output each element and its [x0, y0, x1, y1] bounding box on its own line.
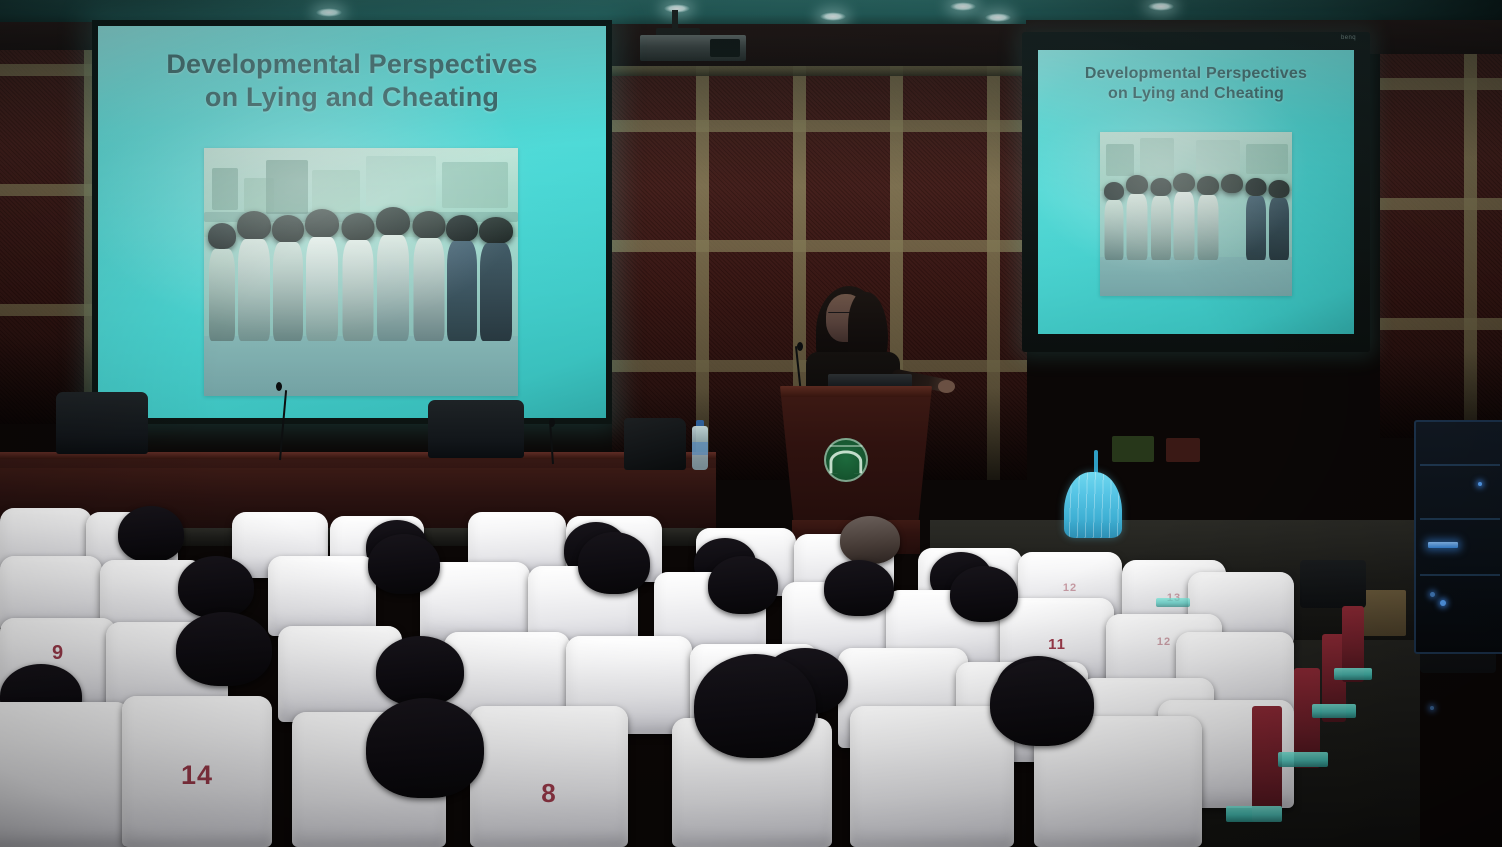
seat[interactable]: 8	[470, 706, 628, 847]
downlight-icon	[1148, 2, 1174, 11]
seat-armrest	[1278, 752, 1328, 767]
child-head	[208, 223, 236, 249]
child-head	[1126, 175, 1148, 194]
shelf-object	[212, 168, 238, 210]
lectern-top	[780, 386, 932, 397]
audience-head	[950, 566, 1018, 622]
presenter-hand	[938, 380, 955, 393]
left-wall	[0, 24, 104, 424]
child-figure	[1197, 176, 1219, 260]
ceiling-projector	[636, 10, 756, 70]
child-head	[1197, 176, 1219, 195]
child-figure	[1268, 180, 1289, 260]
child-body	[413, 238, 444, 341]
child-body	[1105, 200, 1124, 260]
main-slide-title-line2: on Lying and Cheating	[98, 81, 606, 114]
bottle-label	[692, 442, 708, 455]
child-head	[1173, 173, 1195, 192]
rack-led-indicator	[1440, 600, 1446, 606]
child-figure	[272, 215, 304, 341]
wall-shading	[0, 24, 104, 424]
audience-head	[694, 654, 816, 758]
seat-cover	[268, 556, 376, 636]
child-head	[1221, 174, 1243, 193]
child-figure	[1126, 175, 1148, 260]
child-body	[480, 243, 512, 341]
shelf-object	[266, 160, 308, 214]
seat-number: 11	[1000, 636, 1114, 653]
umbrella-ribs	[1064, 472, 1122, 538]
classroom-floor	[204, 336, 518, 396]
child-figure	[1104, 182, 1124, 260]
seat-cover	[850, 706, 1014, 847]
microphone-head-icon	[797, 342, 803, 351]
seat-cover	[0, 702, 130, 847]
child-body	[238, 239, 270, 341]
child-head	[272, 215, 304, 243]
audience-head	[376, 636, 464, 706]
seat-armrest	[1334, 668, 1372, 680]
child-figure	[446, 215, 478, 341]
audience-head	[178, 556, 254, 618]
child-head	[1268, 180, 1289, 198]
child-body	[1198, 195, 1219, 260]
secondary-slide-title: Developmental Perspectives on Lying and …	[1038, 64, 1354, 103]
seat-number: 14	[122, 760, 272, 791]
lectern	[780, 386, 932, 538]
secondary-slide-title-line2: on Lying and Cheating	[1038, 84, 1354, 104]
child-body	[377, 235, 409, 341]
child-head	[341, 213, 374, 241]
child-body	[1269, 198, 1289, 260]
bottle-body	[692, 426, 708, 470]
secondary-slide-photo	[1100, 132, 1292, 296]
rack-shelf	[1420, 574, 1500, 576]
child-head	[412, 211, 445, 239]
shelf-object	[366, 156, 436, 206]
wall-shading	[1380, 38, 1502, 438]
audience-head	[118, 506, 184, 562]
head-table-microphone	[546, 418, 558, 464]
head-table-microphone	[272, 382, 286, 460]
microphone-head-icon	[549, 418, 555, 427]
child-head	[446, 215, 478, 242]
child-head	[479, 217, 513, 244]
black-bag	[624, 418, 686, 470]
side-chair[interactable]	[1300, 560, 1366, 608]
rack-shelf	[1420, 518, 1500, 520]
child-figure	[237, 211, 271, 341]
microphone-stem	[279, 390, 287, 460]
head-table-chair[interactable]	[56, 392, 148, 454]
child-body	[447, 241, 477, 341]
main-slide-title: Developmental Perspectives on Lying and …	[98, 48, 606, 114]
lecture-hall-photo: Developmental Perspectives on Lying and …	[0, 0, 1502, 847]
child-figure	[1245, 178, 1266, 260]
main-screen-frame: Developmental Perspectives on Lying and …	[92, 20, 612, 424]
child-figure	[479, 217, 513, 341]
umbrella	[1064, 472, 1122, 538]
child-head	[305, 209, 339, 238]
secondary-slide-title-line1: Developmental Perspectives	[1038, 64, 1354, 84]
child-figure	[1221, 174, 1243, 260]
university-emblem-icon	[824, 438, 868, 482]
water-bottle	[692, 420, 708, 470]
child-figure	[208, 223, 236, 341]
floor-led-reflection	[1430, 592, 1435, 597]
audience-head	[708, 556, 778, 614]
child-head	[1104, 182, 1124, 200]
podium-laptop[interactable]	[828, 374, 912, 388]
secondary-monitor-bezel: benq Developmental Perspectives on Lying…	[1022, 32, 1370, 352]
child-body	[1246, 196, 1266, 260]
audience-head	[824, 560, 894, 616]
av-equipment-rack	[1414, 420, 1502, 654]
child-body	[1222, 193, 1243, 260]
downlight-icon	[316, 8, 342, 17]
audience-head	[578, 532, 650, 594]
shelf-object	[442, 162, 508, 208]
seat-number: 8	[470, 778, 628, 809]
audience-head	[840, 516, 900, 564]
child-body	[1174, 192, 1195, 260]
child-body	[273, 242, 303, 341]
main-slide-title-line1: Developmental Perspectives	[98, 48, 606, 81]
side-table-objects	[1166, 438, 1200, 462]
main-slide-photo	[204, 148, 518, 396]
secondary-projection-screen[interactable]: Developmental Perspectives on Lying and …	[1038, 50, 1354, 334]
child-figure	[412, 211, 445, 341]
downlight-icon	[985, 13, 1011, 22]
downlight-icon	[820, 12, 846, 21]
monitor-brand-label: benq	[1341, 35, 1356, 41]
child-figure	[1173, 173, 1195, 260]
main-projection-screen[interactable]: Developmental Perspectives on Lying and …	[98, 26, 606, 418]
right-wall	[1380, 38, 1502, 438]
seat[interactable]	[268, 556, 376, 636]
classroom-floor	[1100, 257, 1292, 296]
seat[interactable]: 14	[122, 696, 272, 847]
shelf-object	[1106, 144, 1134, 176]
floor-led-reflection	[1430, 706, 1434, 710]
child-body	[342, 240, 373, 341]
shelf-object	[1196, 140, 1240, 174]
rack-shelf	[1420, 464, 1500, 466]
microphone-head-icon	[276, 382, 282, 391]
shelf-object	[1246, 144, 1288, 174]
seat-armrest	[1226, 806, 1282, 822]
child-body	[1127, 194, 1148, 260]
audience-head	[990, 660, 1094, 746]
child-body	[209, 249, 235, 341]
child-figure	[376, 207, 410, 341]
head-table-chair[interactable]	[428, 400, 524, 458]
side-table-objects	[1112, 436, 1154, 462]
rack-led-bar	[1428, 542, 1458, 548]
child-body	[1151, 196, 1171, 260]
cardboard-box	[1360, 590, 1406, 636]
seat[interactable]	[850, 706, 1014, 847]
shelf-object	[1140, 138, 1174, 176]
microphone-stem	[549, 424, 554, 464]
emblem-arch-mark	[829, 450, 862, 473]
audience-head	[366, 698, 484, 798]
audience-head	[176, 612, 272, 686]
rack-led-indicator	[1478, 482, 1482, 486]
child-figure	[1150, 178, 1171, 260]
seat-armrest	[1156, 598, 1190, 607]
shelf-object	[312, 170, 360, 214]
child-head	[1245, 178, 1266, 196]
seat-cover	[470, 706, 628, 847]
child-figure	[341, 213, 374, 341]
downlight-icon	[950, 2, 976, 11]
projector-lens-icon	[710, 39, 740, 57]
seat-number: 9	[0, 642, 116, 665]
seat-armrest	[1312, 704, 1356, 718]
emblem-ring-text	[830, 445, 863, 447]
child-figure	[305, 209, 339, 341]
child-head	[376, 207, 410, 236]
child-body	[306, 237, 338, 341]
child-head	[237, 211, 271, 240]
audience-head	[368, 534, 440, 594]
child-head	[1150, 178, 1171, 196]
seat[interactable]	[0, 702, 130, 847]
seat-number: 12	[1018, 582, 1122, 594]
